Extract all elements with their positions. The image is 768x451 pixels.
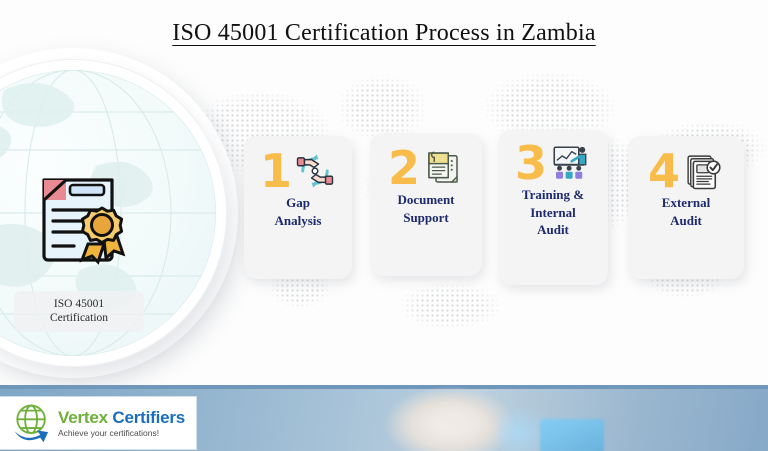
step-1-header: 1 bbox=[244, 148, 352, 194]
training-presentation-icon bbox=[549, 142, 591, 184]
slide-canvas: ISO 45001 Certification Process in Zambi… bbox=[0, 0, 768, 451]
badge-label: ISO 45001 Certification bbox=[14, 291, 144, 332]
step-1-label: Gap Analysis bbox=[269, 194, 328, 229]
badge-label-line1: ISO 45001 bbox=[18, 297, 140, 311]
company-logo[interactable]: Vertex Certifiers Achieve your certifica… bbox=[0, 397, 196, 449]
step-4-number: 4 bbox=[648, 148, 680, 194]
step-4-label-line1: External bbox=[662, 194, 710, 212]
certification-badge: ISO 45001 Certification bbox=[0, 48, 238, 378]
step-1-label-line2: Analysis bbox=[275, 212, 322, 230]
step-3-label-line3: Audit bbox=[522, 221, 584, 239]
step-4-header: 4 bbox=[628, 148, 744, 194]
step-3-header: 3 bbox=[498, 140, 608, 186]
certificate-award-icon bbox=[30, 166, 126, 270]
screen-glow-decoration bbox=[540, 419, 604, 451]
logo-name: Vertex Certifiers bbox=[58, 409, 185, 426]
step-1-label-line1: Gap bbox=[275, 194, 322, 212]
documents-check-icon bbox=[682, 150, 724, 192]
step-4-label-line2: Audit bbox=[662, 212, 710, 230]
step-2-label-line2: Support bbox=[397, 209, 454, 227]
process-steps: 1 Gap Analysi bbox=[236, 0, 768, 390]
step-2-label-line1: Document bbox=[397, 191, 454, 209]
document-clipboard-icon bbox=[422, 147, 464, 189]
logo-tagline: Achieve your certifications! bbox=[58, 429, 185, 438]
step-3-label-line1: Training & bbox=[522, 186, 584, 204]
step-1-number: 1 bbox=[260, 148, 292, 194]
step-card-4[interactable]: 4 bbox=[628, 136, 744, 279]
step-2-header: 2 bbox=[370, 145, 482, 191]
step-3-number: 3 bbox=[515, 140, 547, 186]
logo-name-part1: Vertex bbox=[58, 408, 108, 427]
step-card-2[interactable]: 2 bbox=[370, 133, 482, 276]
hand-highlight-decoration bbox=[400, 393, 510, 451]
step-2-number: 2 bbox=[388, 145, 420, 191]
step-2-label: Document Support bbox=[391, 191, 460, 226]
step-card-1[interactable]: 1 Gap Analysi bbox=[244, 136, 352, 279]
logo-wordmark: Vertex Certifiers Achieve your certifica… bbox=[58, 409, 185, 438]
step-4-label: External Audit bbox=[656, 194, 716, 229]
globe-arrow-logo-icon bbox=[10, 401, 54, 445]
logo-name-part2: Certifiers bbox=[112, 408, 185, 427]
step-card-3[interactable]: 3 bbox=[498, 130, 608, 285]
handshake-icon bbox=[294, 150, 336, 192]
step-3-label-line2: Internal bbox=[522, 204, 584, 222]
badge-label-line2: Certification bbox=[18, 311, 140, 325]
footer-banner: Vertex Certifiers Achieve your certifica… bbox=[0, 385, 768, 451]
step-3-label: Training & Internal Audit bbox=[516, 186, 590, 239]
